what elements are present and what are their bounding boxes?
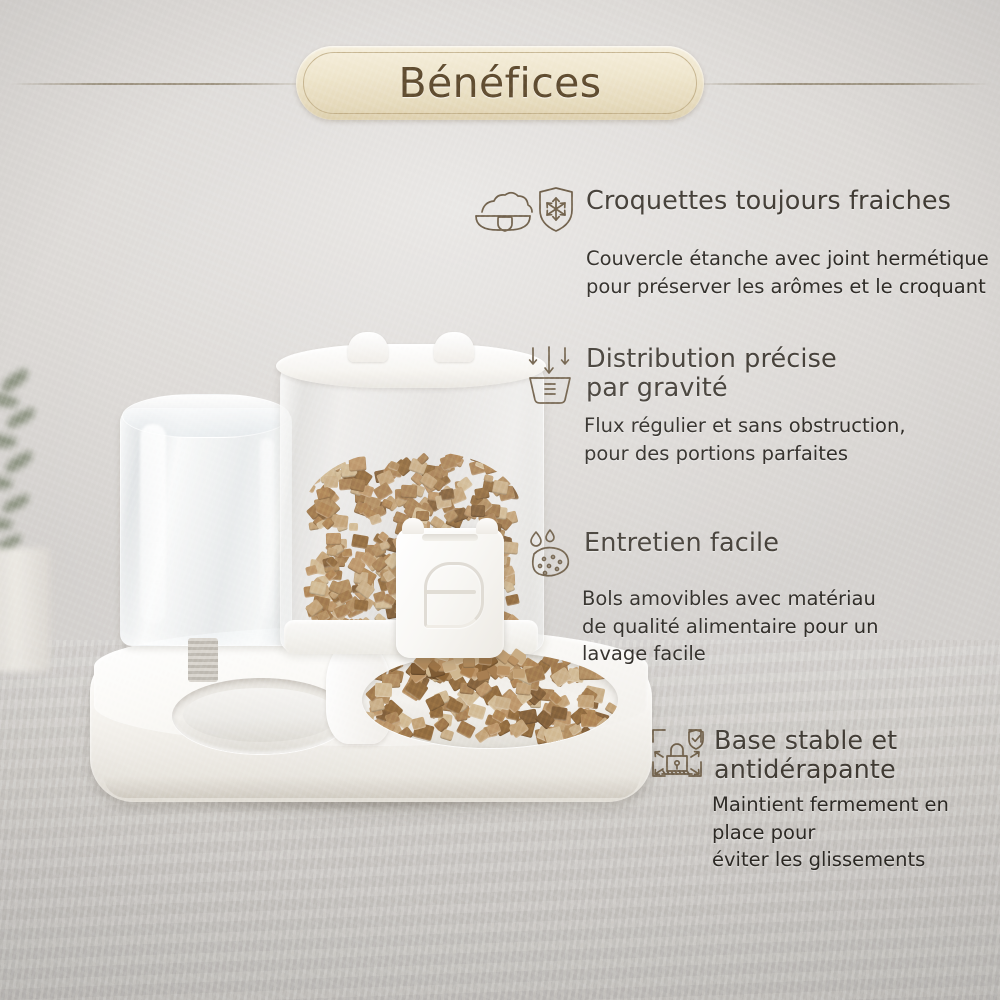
benefit-body-line: Bols amovibles avec matériau xyxy=(582,585,994,613)
benefit-body-line: Flux régulier et sans obstruction, xyxy=(584,412,994,440)
benefit-body-line: place pour xyxy=(712,819,996,847)
page-title-banner: Bénéfices xyxy=(296,46,704,120)
benefit-body: Bols amovibles avec matériau de qualité … xyxy=(582,585,994,668)
benefit-base-stable: Base stable et antidérapante Maintient f… xyxy=(650,726,996,874)
benefit-title: Entretien facile xyxy=(584,528,779,558)
benefit-body-line: de qualité alimentaire pour un xyxy=(582,613,994,641)
benefit-entretien-facile: Entretien facile Bols amovibles avec mat… xyxy=(524,528,994,668)
benefit-title: Distribution précise par gravité xyxy=(586,344,837,403)
hopper-lid xyxy=(276,344,546,388)
water-bowl xyxy=(172,678,350,754)
benefit-title-line: Base stable et xyxy=(714,727,897,756)
benefit-body-line: lavage facile xyxy=(582,640,994,668)
benefit-title: Croquettes toujours fraiches xyxy=(586,186,951,216)
gravity-flow-measuring-cup-icon xyxy=(524,344,576,406)
page-title: Bénéfices xyxy=(398,59,601,107)
infographic-page: Bénéfices Croquettes toujours fraiches xyxy=(0,0,1000,1000)
benefit-title-line: par gravité xyxy=(586,374,837,403)
benefit-croquettes-fraiches: Croquettes toujours fraiches Couvercle é… xyxy=(472,186,992,300)
sponge-droplets-icon xyxy=(524,528,574,580)
water-tank xyxy=(120,394,290,644)
benefit-title-line: antidérapante xyxy=(714,756,897,785)
benefit-body: Maintient fermement en place pour éviter… xyxy=(712,791,996,874)
dispenser-valve xyxy=(396,528,504,658)
background-plant xyxy=(0,372,62,672)
benefit-body-line: éviter les glissements xyxy=(712,846,996,874)
fresh-kibble-shield-snowflake-icon xyxy=(472,186,576,240)
plant-foliage xyxy=(0,372,58,562)
benefit-body: Flux régulier et sans obstruction, pour … xyxy=(584,412,994,467)
benefit-body-line: pour des portions parfaites xyxy=(584,440,994,468)
stable-base-lock-shield-icon xyxy=(650,726,704,784)
water-tank-neck xyxy=(188,638,218,682)
benefit-title-line: Distribution précise xyxy=(586,345,837,374)
benefit-body-line: Maintient fermement en xyxy=(712,791,996,819)
benefit-body-line: pour préserver les arômes et le croquant xyxy=(586,273,992,301)
food-hopper xyxy=(280,332,542,652)
benefit-distribution-gravite: Distribution précise par gravité Flux ré… xyxy=(524,344,994,467)
banner-rule-left xyxy=(10,83,310,85)
benefit-body: Couvercle étanche avec joint hermétique … xyxy=(586,245,992,300)
plant-pot xyxy=(0,548,50,672)
banner-rule-right xyxy=(690,83,990,85)
benefit-title: Base stable et antidérapante xyxy=(714,726,897,785)
benefit-body-line: Couvercle étanche avec joint hermétique xyxy=(586,245,992,273)
